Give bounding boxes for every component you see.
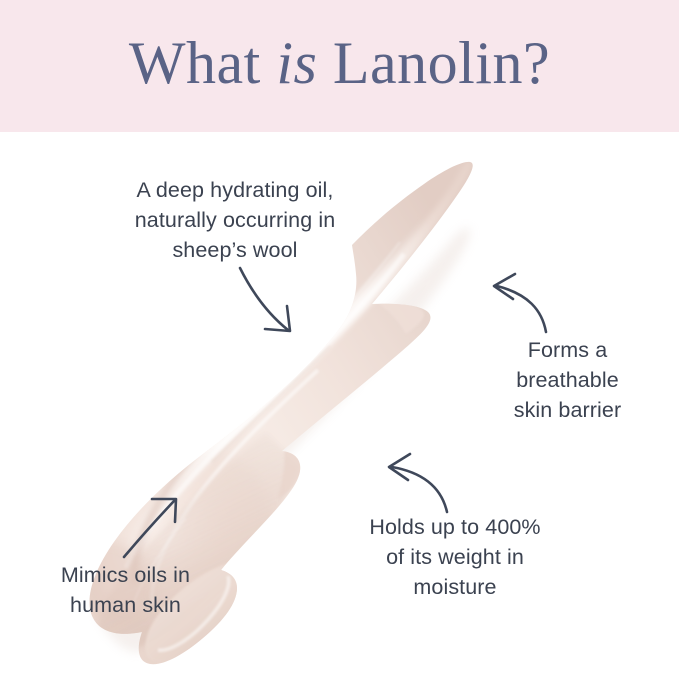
callout-line: skin barrier: [470, 395, 665, 425]
callout-line: Mimics oils in: [18, 560, 233, 590]
callout-hydrating-oil: A deep hydrating oil, naturally occurrin…: [95, 175, 375, 265]
callout-mimics-oils: Mimics oils in human skin: [18, 560, 233, 620]
callout-line: moisture: [330, 572, 580, 602]
callout-line: breathable: [470, 365, 665, 395]
callout-line: human skin: [18, 590, 233, 620]
callout-line: Holds up to 400%: [330, 512, 580, 542]
callout-line: sheep’s wool: [95, 235, 375, 265]
callout-line: of its weight in: [330, 542, 580, 572]
callout-moisture: Holds up to 400% of its weight in moistu…: [330, 512, 580, 602]
page-title-italic: is: [276, 33, 317, 93]
callout-line: Forms a: [470, 335, 665, 365]
callout-line: A deep hydrating oil,: [95, 175, 375, 205]
lanolin-infographic: What is Lanolin?: [0, 0, 679, 679]
page-title: What is Lanolin?: [0, 0, 679, 132]
callout-line: naturally occurring in: [95, 205, 375, 235]
page-title-prefix: What: [129, 33, 276, 93]
page-title-suffix: Lanolin?: [317, 33, 550, 93]
callout-skin-barrier: Forms a breathable skin barrier: [470, 335, 665, 425]
